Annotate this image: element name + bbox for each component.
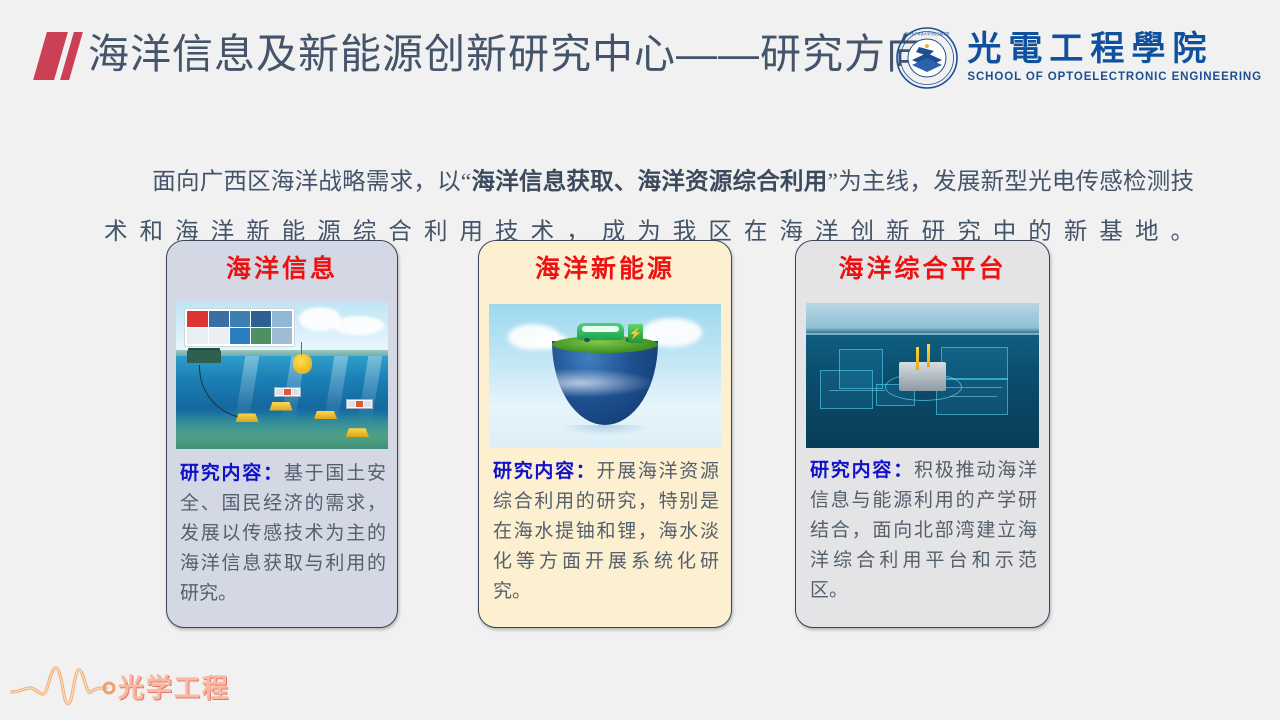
card-title: 海洋信息 xyxy=(167,253,397,287)
ocean-monitoring-illustration xyxy=(176,301,388,449)
card-title: 海洋新能源 xyxy=(479,253,731,287)
card-body-lead: 研究内容： xyxy=(493,461,597,482)
research-card-ocean-new-energy[interactable]: 海洋新能源 研究内容：开展海洋资源综合利用的研究，特别是在海水提铀和锂，海水淡化… xyxy=(478,240,732,628)
school-logo: 桂林电子科技大学光电工程学院 光電工程學院 SCHOOL OF OPTOELEC… xyxy=(895,25,1262,91)
card-image-offshore-platform xyxy=(806,303,1039,448)
intro-part-1: 面向广西区海洋战略需求，以“ xyxy=(152,169,471,195)
card-body-text: 基于国土安全、国民经济的需求，发展以传感技术为主的海洋信息获取与利用的研究。 xyxy=(180,463,386,604)
slide-header: 海洋信息及新能源创新研究中心——研究方向 桂林电子科技大学光电工程学院 光電工程… xyxy=(0,0,1280,105)
green-energy-earth-illustration xyxy=(489,304,721,448)
smart-offshore-platform-illustration xyxy=(806,303,1039,448)
card-body: 研究内容：积极推动海洋信息与能源利用的产学研结合，面向北部湾建立海洋综合利用平台… xyxy=(810,456,1037,606)
waveform-icon xyxy=(10,660,120,712)
slide-footer: 光学工程 xyxy=(0,646,340,720)
card-image-ocean-monitoring xyxy=(176,301,388,449)
intro-highlight: 海洋信息获取、海洋资源综合利用 xyxy=(471,169,827,195)
svg-text:桂林电子科技大学光电工程学院: 桂林电子科技大学光电工程学院 xyxy=(905,31,950,36)
card-title: 海洋综合平台 xyxy=(796,253,1049,287)
school-logo-text: 光電工程學院 SCHOOL OF OPTOELECTRONIC ENGINEER… xyxy=(967,31,1262,85)
card-body: 研究内容：开展海洋资源综合利用的研究，特别是在海水提铀和锂，海水淡化等方面开展系… xyxy=(493,457,719,607)
school-seal-icon: 桂林电子科技大学光电工程学院 xyxy=(895,26,959,90)
card-body-lead: 研究内容： xyxy=(180,463,284,484)
card-image-green-energy xyxy=(489,304,721,448)
school-name-cn: 光電工程學院 xyxy=(967,31,1262,69)
footer-label: 光学工程 xyxy=(118,672,230,706)
research-card-ocean-information[interactable]: 海洋信息 研究内容：基于国土安全、国民经济的需求，发展以 xyxy=(166,240,398,628)
research-card-ocean-platform[interactable]: 海洋综合平台 研究内容：积极推动海洋信息与能源利用的产学研结合，面向北部湾建立海… xyxy=(795,240,1050,628)
card-body-text: 积极推动海洋信息与能源利用的产学研结合，面向北部湾建立海洋综合利用平台和示范区。 xyxy=(810,460,1037,601)
school-name-en: SCHOOL OF OPTOELECTRONIC ENGINEERING xyxy=(967,69,1262,85)
card-body-text: 开展海洋资源综合利用的研究，特别是在海水提铀和锂，海水淡化等方面开展系统化研究。 xyxy=(493,461,719,602)
card-body-lead: 研究内容： xyxy=(810,460,914,481)
card-body: 研究内容：基于国土安全、国民经济的需求，发展以传感技术为主的海洋信息获取与利用的… xyxy=(180,459,386,609)
title-accent-mark xyxy=(36,32,84,80)
page-title: 海洋信息及新能源创新研究中心——研究方向 xyxy=(88,24,928,84)
